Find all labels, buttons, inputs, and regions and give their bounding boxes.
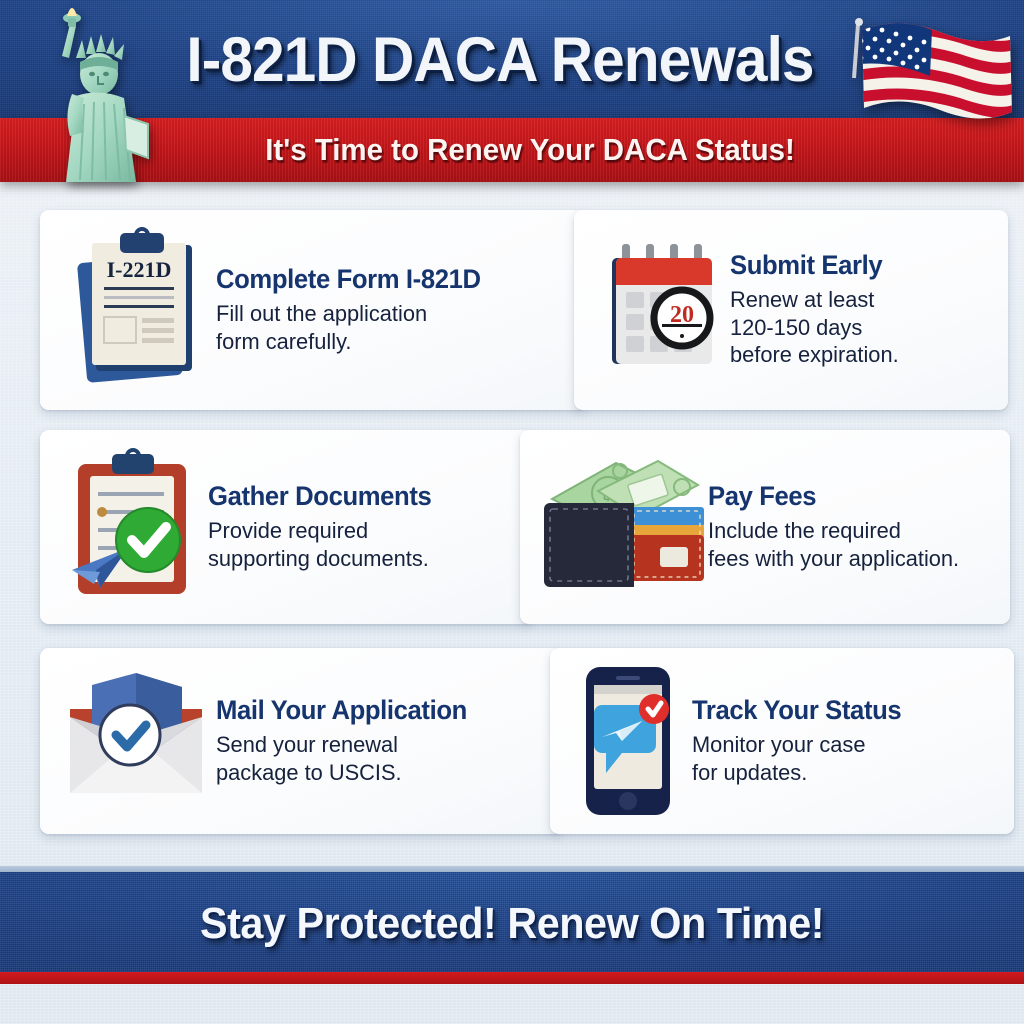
step-heading: Pay Fees xyxy=(708,482,978,510)
page-title: I-821D DACA Renewals xyxy=(147,14,854,106)
step-body: Provide required supporting documents. xyxy=(208,517,505,572)
step-card-text: Mail Your Application Send your renewal … xyxy=(216,696,552,786)
step-body: Send your renewal package to USCIS. xyxy=(216,731,534,786)
clipboard-form-icon: I-221D xyxy=(56,225,216,395)
step-card-mail-application[interactable]: Mail Your Application Send your renewal … xyxy=(40,648,562,834)
step-card-text: Pay Fees Include the required fees with … xyxy=(708,482,1000,572)
steps-grid: I-221D Complete Form I-821D Fill out the xyxy=(0,196,1024,856)
step-heading: Submit Early xyxy=(730,251,977,279)
footer-callout: Stay Protected! Renew On Time! xyxy=(31,872,994,976)
step-card-complete-form[interactable]: I-221D Complete Form I-821D Fill out the xyxy=(40,210,586,410)
step-heading: Gather Documents xyxy=(208,482,499,510)
smartphone-notification-icon xyxy=(572,661,692,821)
step-card-text: Submit Early Renew at least 120-150 days… xyxy=(730,251,998,368)
step-body: Include the required fees with your appl… xyxy=(708,517,983,572)
step-card-submit-early[interactable]: 20 Submit Early Renew at least 120-150 d… xyxy=(574,210,1008,410)
step-body: Monitor your case for updates. xyxy=(692,731,987,786)
step-body: Fill out the application form carefully. xyxy=(216,300,554,355)
infographic-poster: I-821D DACA Renewals It's Time to Renew … xyxy=(0,0,1024,1024)
statue-of-liberty-icon xyxy=(36,0,156,186)
wallet-money-icon: $ xyxy=(538,447,708,607)
step-card-gather-documents[interactable]: Gather Documents Provide required suppor… xyxy=(40,430,532,624)
clipboard-form-label: I-221D xyxy=(107,257,172,282)
page-subtitle: It's Time to Renew Your DACA Status! xyxy=(169,118,891,182)
step-body: Renew at least 120-150 days before expir… xyxy=(730,286,982,368)
step-heading: Track Your Status xyxy=(692,696,981,724)
envelope-check-icon xyxy=(56,665,216,817)
us-flag-icon xyxy=(840,8,1015,158)
step-card-text: Gather Documents Provide required suppor… xyxy=(208,482,522,572)
step-heading: Complete Form I-821D xyxy=(216,265,547,293)
step-heading: Mail Your Application xyxy=(216,696,528,724)
step-card-pay-fees[interactable]: $ xyxy=(520,430,1010,624)
step-card-text: Track Your Status Monitor your case for … xyxy=(692,696,1004,786)
step-card-text: Complete Form I-821D Fill out the applic… xyxy=(216,265,572,355)
calendar-icon: 20 xyxy=(590,230,730,390)
step-card-track-status[interactable]: Track Your Status Monitor your case for … xyxy=(550,648,1014,834)
clipboard-check-icon xyxy=(56,444,208,610)
